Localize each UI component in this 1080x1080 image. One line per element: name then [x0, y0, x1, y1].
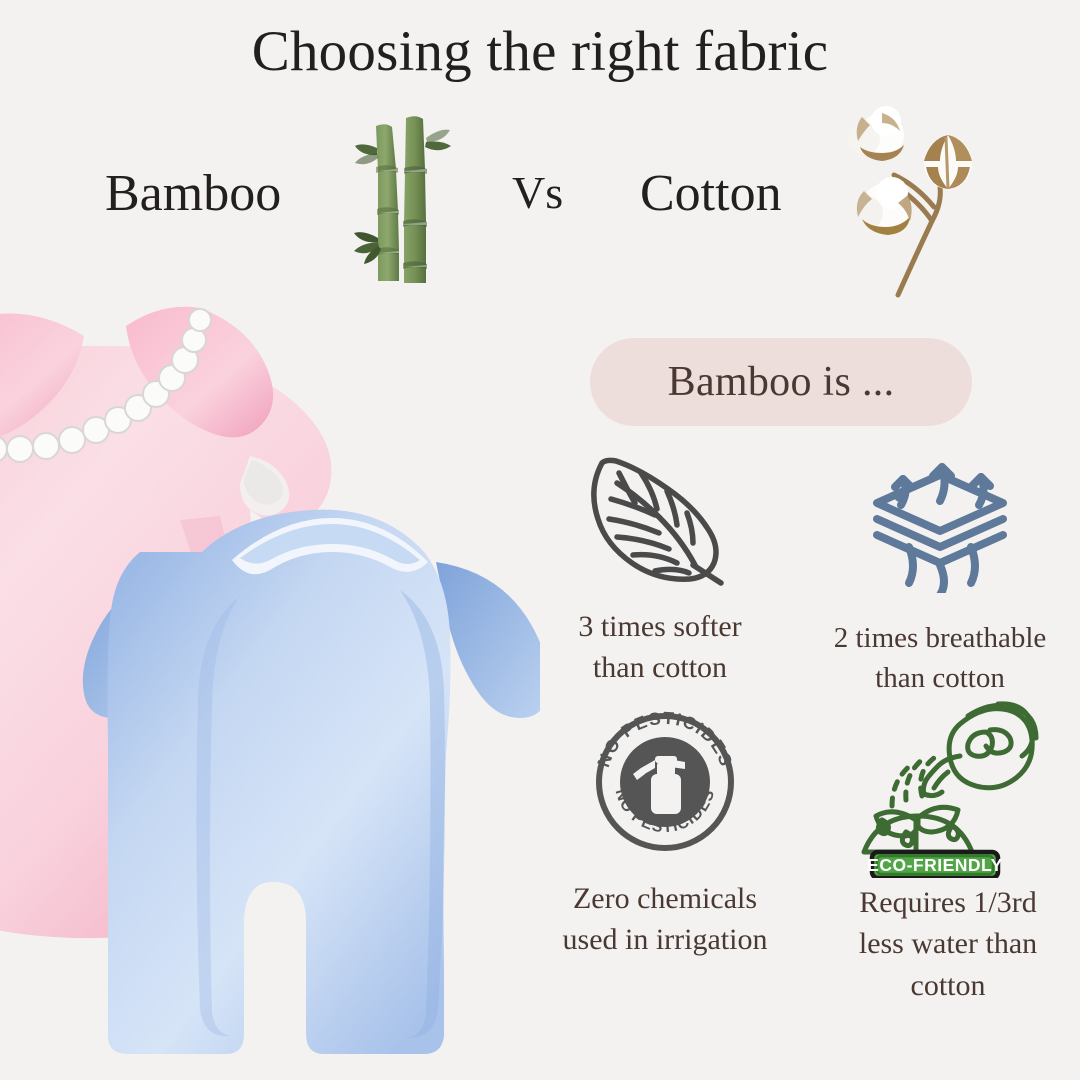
feature-breathable: 2 times breathable than cotton — [795, 445, 1080, 698]
page-title: Choosing the right fabric — [0, 22, 1080, 82]
no-pesticides-badge-icon: NO PESTICIDES NO PESTICIDES — [520, 702, 810, 862]
comparison-right-label: Cotton — [640, 168, 782, 220]
baby-clothes-illustration — [0, 260, 540, 1060]
infographic-canvas: Choosing the right fabric Bamboo Vs Cott… — [0, 0, 1080, 1080]
feature-softer-caption: 3 times softer than cotton — [500, 606, 820, 689]
feather-icon — [500, 445, 820, 590]
feature-less-water-caption: Requires 1/3rd less water than cotton — [808, 882, 1080, 1006]
feature-softer: 3 times softer than cotton — [500, 445, 820, 689]
feature-breathable-caption: 2 times breathable than cotton — [795, 618, 1080, 698]
feature-less-water: ECO-FRIENDLY Requires 1/3rd less water t… — [808, 700, 1080, 1006]
feature-no-chemicals: NO PESTICIDES NO PESTICIDES Zero chemica… — [520, 702, 810, 961]
comparison-left-label: Bamboo — [105, 168, 281, 220]
bamboo-is-banner-label: Bamboo is ... — [668, 358, 895, 406]
breathable-layers-icon — [795, 445, 1080, 590]
comparison-vs-label: Vs — [512, 170, 563, 216]
cotton-branch-icon — [820, 95, 1050, 325]
bamboo-stalks-icon — [350, 108, 460, 283]
eco-friendly-badge-label: ECO-FRIENDLY — [867, 855, 1003, 875]
watering-can-sprout-icon: ECO-FRIENDLY — [808, 700, 1080, 878]
feature-no-chemicals-caption: Zero chemicals used in irrigation — [520, 878, 810, 961]
bamboo-is-banner: Bamboo is ... — [590, 338, 972, 426]
